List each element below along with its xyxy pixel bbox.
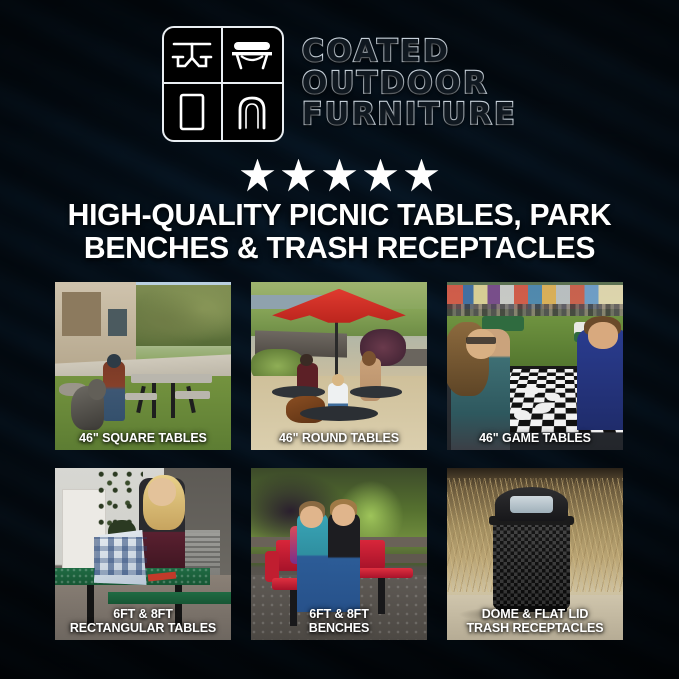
headline-line-1: HIGH-QUALITY PICNIC TABLES, PARK: [68, 197, 612, 232]
brand-logo: COATED OUTDOOR FURNITURE: [0, 24, 679, 144]
product-cell-trash-receptacles[interactable]: DOME & FLAT LID TRASH RECEPTACLES: [447, 468, 623, 640]
star-icon: [364, 159, 398, 192]
star-rating: [0, 157, 679, 193]
poster-content: COATED OUTDOOR FURNITURE HIGH-QUALITY PI…: [0, 0, 679, 679]
wordmark-line-furniture: FURNITURE: [302, 100, 517, 131]
product-cell-rectangular-tables[interactable]: 6FT & 8FT RECTANGULAR TABLES: [55, 468, 231, 640]
product-grid: 46" SQUARE TABLES: [55, 282, 624, 640]
product-cell-round-tables[interactable]: 46" ROUND TABLES: [251, 282, 427, 450]
bench-icon: [223, 28, 282, 84]
headline-line-2: BENCHES & TRASH RECEPTACLES: [39, 231, 639, 264]
star-icon: [241, 159, 275, 192]
caption-line-1: 6FT & 8FT: [113, 607, 173, 621]
trash-receptacle-icon: [164, 84, 223, 140]
star-icon: [405, 159, 439, 192]
product-cell-benches[interactable]: 6FT & 8FT BENCHES: [251, 468, 427, 640]
product-photo-round-tables: [251, 282, 427, 450]
product-poster: COATED OUTDOOR FURNITURE HIGH-QUALITY PI…: [0, 0, 679, 679]
wordmark-line-coated: COATED: [302, 37, 517, 68]
wordmark-line-outdoor: OUTDOOR: [302, 69, 517, 100]
caption-line-1: 46" ROUND TABLES: [279, 431, 399, 445]
product-photo-square-tables: [55, 282, 231, 450]
logo-icon-grid: [162, 26, 284, 142]
product-caption: 6FT & 8FT BENCHES: [254, 607, 424, 635]
product-photo-game-tables: [447, 282, 623, 450]
product-cell-square-tables[interactable]: 46" SQUARE TABLES: [55, 282, 231, 450]
caption-line-2: BENCHES: [254, 621, 424, 635]
caption-line-1: 6FT & 8FT: [309, 607, 369, 621]
bike-rack-icon: [223, 84, 282, 140]
product-caption: 6FT & 8FT RECTANGULAR TABLES: [58, 607, 228, 635]
product-caption: 46" ROUND TABLES: [254, 431, 424, 445]
product-caption: DOME & FLAT LID TRASH RECEPTACLES: [450, 607, 620, 635]
product-caption: 46" GAME TABLES: [450, 431, 620, 445]
caption-line-2: RECTANGULAR TABLES: [58, 621, 228, 635]
picnic-table-icon: [164, 28, 223, 84]
product-caption: 46" SQUARE TABLES: [58, 431, 228, 445]
product-cell-game-tables[interactable]: 46" GAME TABLES: [447, 282, 623, 450]
caption-line-2: TRASH RECEPTACLES: [450, 621, 620, 635]
star-icon: [323, 159, 357, 192]
headline: HIGH-QUALITY PICNIC TABLES, PARK BENCHES…: [39, 198, 639, 265]
caption-line-1: 46" SQUARE TABLES: [79, 431, 207, 445]
brand-wordmark: COATED OUTDOOR FURNITURE: [302, 37, 517, 131]
caption-line-1: 46" GAME TABLES: [479, 431, 591, 445]
caption-line-1: DOME & FLAT LID: [482, 607, 589, 621]
star-icon: [282, 159, 316, 192]
